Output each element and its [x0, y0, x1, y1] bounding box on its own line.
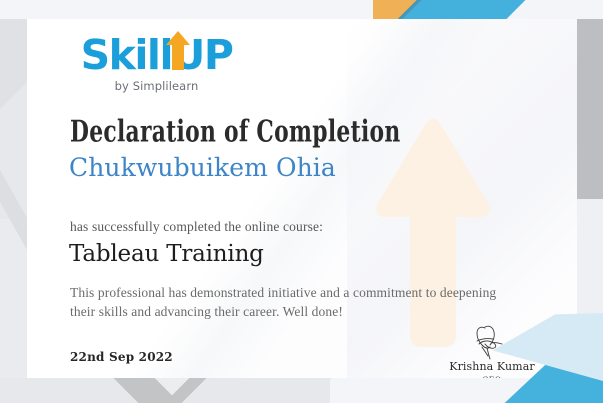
certificate-document: SkillUP by Simplilearn Declaration of Co…	[0, 0, 603, 403]
logo-text-skill: Skill	[81, 31, 172, 79]
top-band	[0, 0, 603, 19]
handwritten-signature-icon	[427, 322, 557, 360]
signature-block: Krishna Kumar CEO	[427, 322, 557, 378]
completion-statement: has successfully completed the online co…	[70, 219, 323, 235]
certificate-card: SkillUP by Simplilearn Declaration of Co…	[27, 19, 577, 378]
course-title: Tableau Training	[69, 241, 264, 267]
logo-tagline: by Simplilearn	[69, 79, 244, 93]
issue-date: 22nd Sep 2022	[70, 350, 173, 364]
bottom-band-gray	[0, 378, 330, 403]
recipient-name: Chukwubuikem Ohia	[69, 153, 336, 182]
certificate-heading: Declaration of Completion	[70, 114, 401, 148]
skillup-logo: SkillUP by Simplilearn	[69, 32, 244, 93]
right-frame-gray-block	[577, 19, 603, 199]
signatory-role: CEO	[427, 375, 557, 378]
certificate-body-text: This professional has demonstrated initi…	[70, 283, 510, 321]
logo-wordmark: SkillUP	[69, 32, 244, 78]
logo-up-arrow-icon	[165, 30, 191, 93]
signatory-name: Krishna Kumar	[427, 360, 557, 373]
logo-text-p: P	[204, 31, 233, 79]
certificate-content: SkillUP by Simplilearn Declaration of Co…	[27, 19, 577, 378]
